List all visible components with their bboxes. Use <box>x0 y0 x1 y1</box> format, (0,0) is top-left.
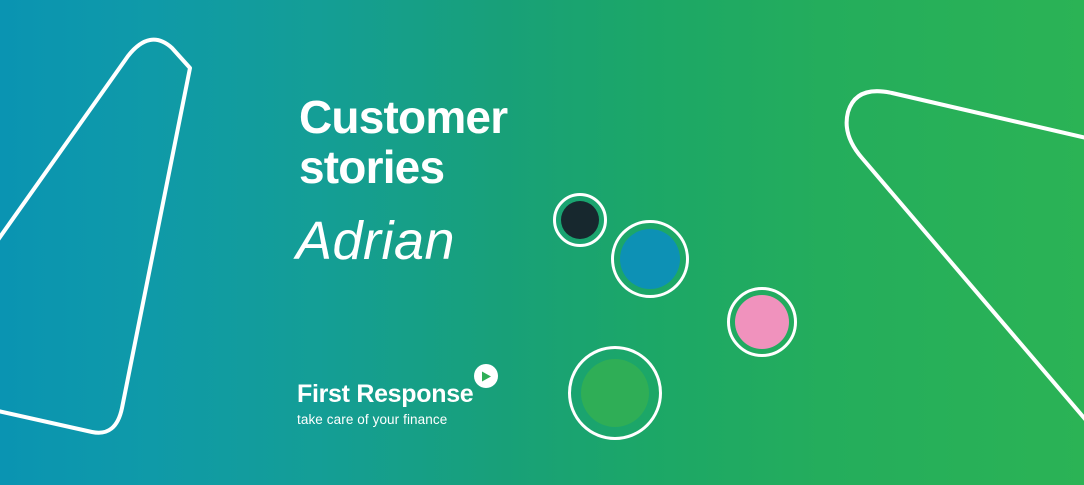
brand-logo: First Response take care of your finance <box>297 381 473 429</box>
dot-blue-fill <box>620 229 680 289</box>
story-subject-name: Adrian <box>296 211 455 271</box>
page-title: Customer stories <box>299 92 507 192</box>
dot-green-fill <box>581 359 649 427</box>
dot-pink <box>727 287 797 357</box>
play-icon[interactable] <box>474 364 498 388</box>
right-rounded-polygon-outline <box>847 91 1084 485</box>
play-triangle-icon <box>480 370 492 383</box>
brand-tagline: take care of your finance <box>297 411 473 429</box>
dot-blue <box>611 220 689 298</box>
brand-name: First Response <box>297 381 473 408</box>
dot-dark <box>553 193 607 247</box>
dot-dark-fill <box>561 201 599 239</box>
left-rounded-polygon-outline <box>0 40 190 433</box>
customer-story-banner: Customer stories Adrian First Response t… <box>0 0 1084 485</box>
decorative-shapes <box>0 0 1084 485</box>
dot-pink-fill <box>735 295 789 349</box>
dot-green <box>568 346 662 440</box>
